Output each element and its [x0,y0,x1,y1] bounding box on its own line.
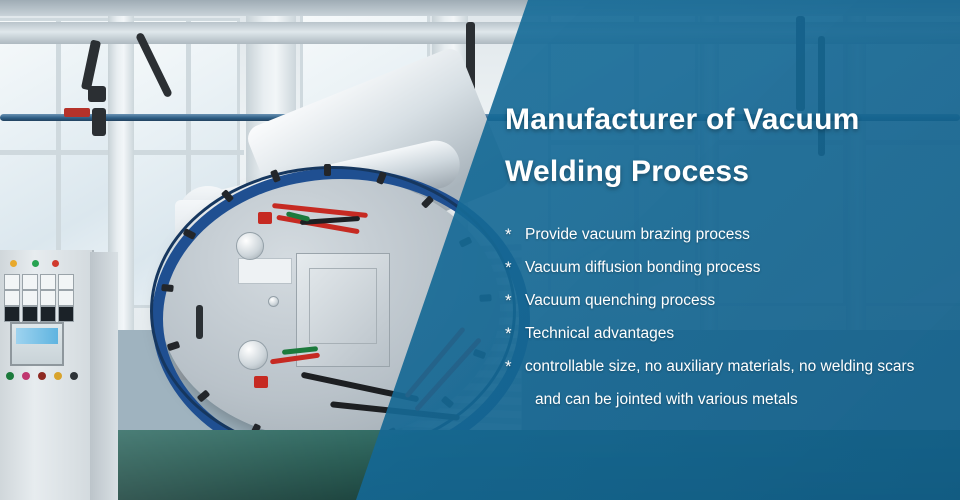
list-item-label: Vacuum diffusion bonding process [525,251,761,284]
list-item: * Vacuum diffusion bonding process [505,251,960,284]
panel-readout [4,306,20,322]
bullet-asterisk-icon: * [505,218,521,251]
bullet-asterisk-icon: * [505,284,521,317]
list-item-label: Vacuum quenching process [525,284,715,317]
list-item: * Provide vacuum brazing process [505,218,960,251]
panel-gauge [40,290,56,306]
panel-readout [22,306,38,322]
list-item: * Technical advantages [505,317,960,350]
panel-gauge [4,290,20,306]
flange-bolt [324,164,331,176]
list-item-label: and can be jointed with various metals [535,383,798,416]
indicator-lamp [10,260,17,267]
list-item-label: controllable size, no auxiliary material… [525,350,914,383]
panel-readout [40,306,56,322]
panel-switch [6,372,14,380]
panel-gauge [4,274,20,290]
list-item: * controllable size, no auxiliary materi… [505,350,960,383]
panel-switch [70,372,78,380]
panel-switch [22,372,30,380]
red-latch [258,212,272,224]
bullet-asterisk-icon: * [505,251,521,284]
panel-gauge [40,274,56,290]
list-item-label: Technical advantages [525,317,674,350]
bullet-asterisk-icon: * [505,350,521,383]
panel-gauge [22,274,38,290]
headline-line-1: Manufacturer of Vacuum [505,94,960,146]
panel-readout [58,306,74,322]
furnace-door-handle [196,305,203,339]
promo-banner: ⚡ Manufacturer of Vacuum Welding Process… [0,0,960,500]
door-knob [238,340,268,370]
panel-switch [54,372,62,380]
indicator-lamp [52,260,59,267]
panel-switch [38,372,46,380]
banner-content: Manufacturer of Vacuum Welding Process *… [505,0,960,500]
headline-line-2: Welding Process [505,146,960,198]
indicator-lamp [32,260,39,267]
control-cabinet-side [90,252,118,500]
flange-bolt [161,284,174,292]
conduit-box [88,86,106,102]
panel-gauge [58,274,74,290]
door-port [268,296,279,307]
conduit-box [92,108,106,136]
pipe-valve [64,108,90,117]
panel-gauge [22,290,38,306]
list-item-label: Provide vacuum brazing process [525,218,750,251]
feature-list: * Provide vacuum brazing process * Vacuu… [505,218,960,415]
red-latch [254,376,268,388]
list-item: * Vacuum quenching process [505,284,960,317]
list-item-continuation: and can be jointed with various metals [505,383,960,415]
banner-headline: Manufacturer of Vacuum Welding Process [505,94,960,198]
panel-gauge [58,290,74,306]
furnace-name-plate [238,258,292,284]
bullet-asterisk-icon: * [505,317,521,350]
hmi-touch-screen [10,322,64,366]
door-knob [236,232,264,260]
